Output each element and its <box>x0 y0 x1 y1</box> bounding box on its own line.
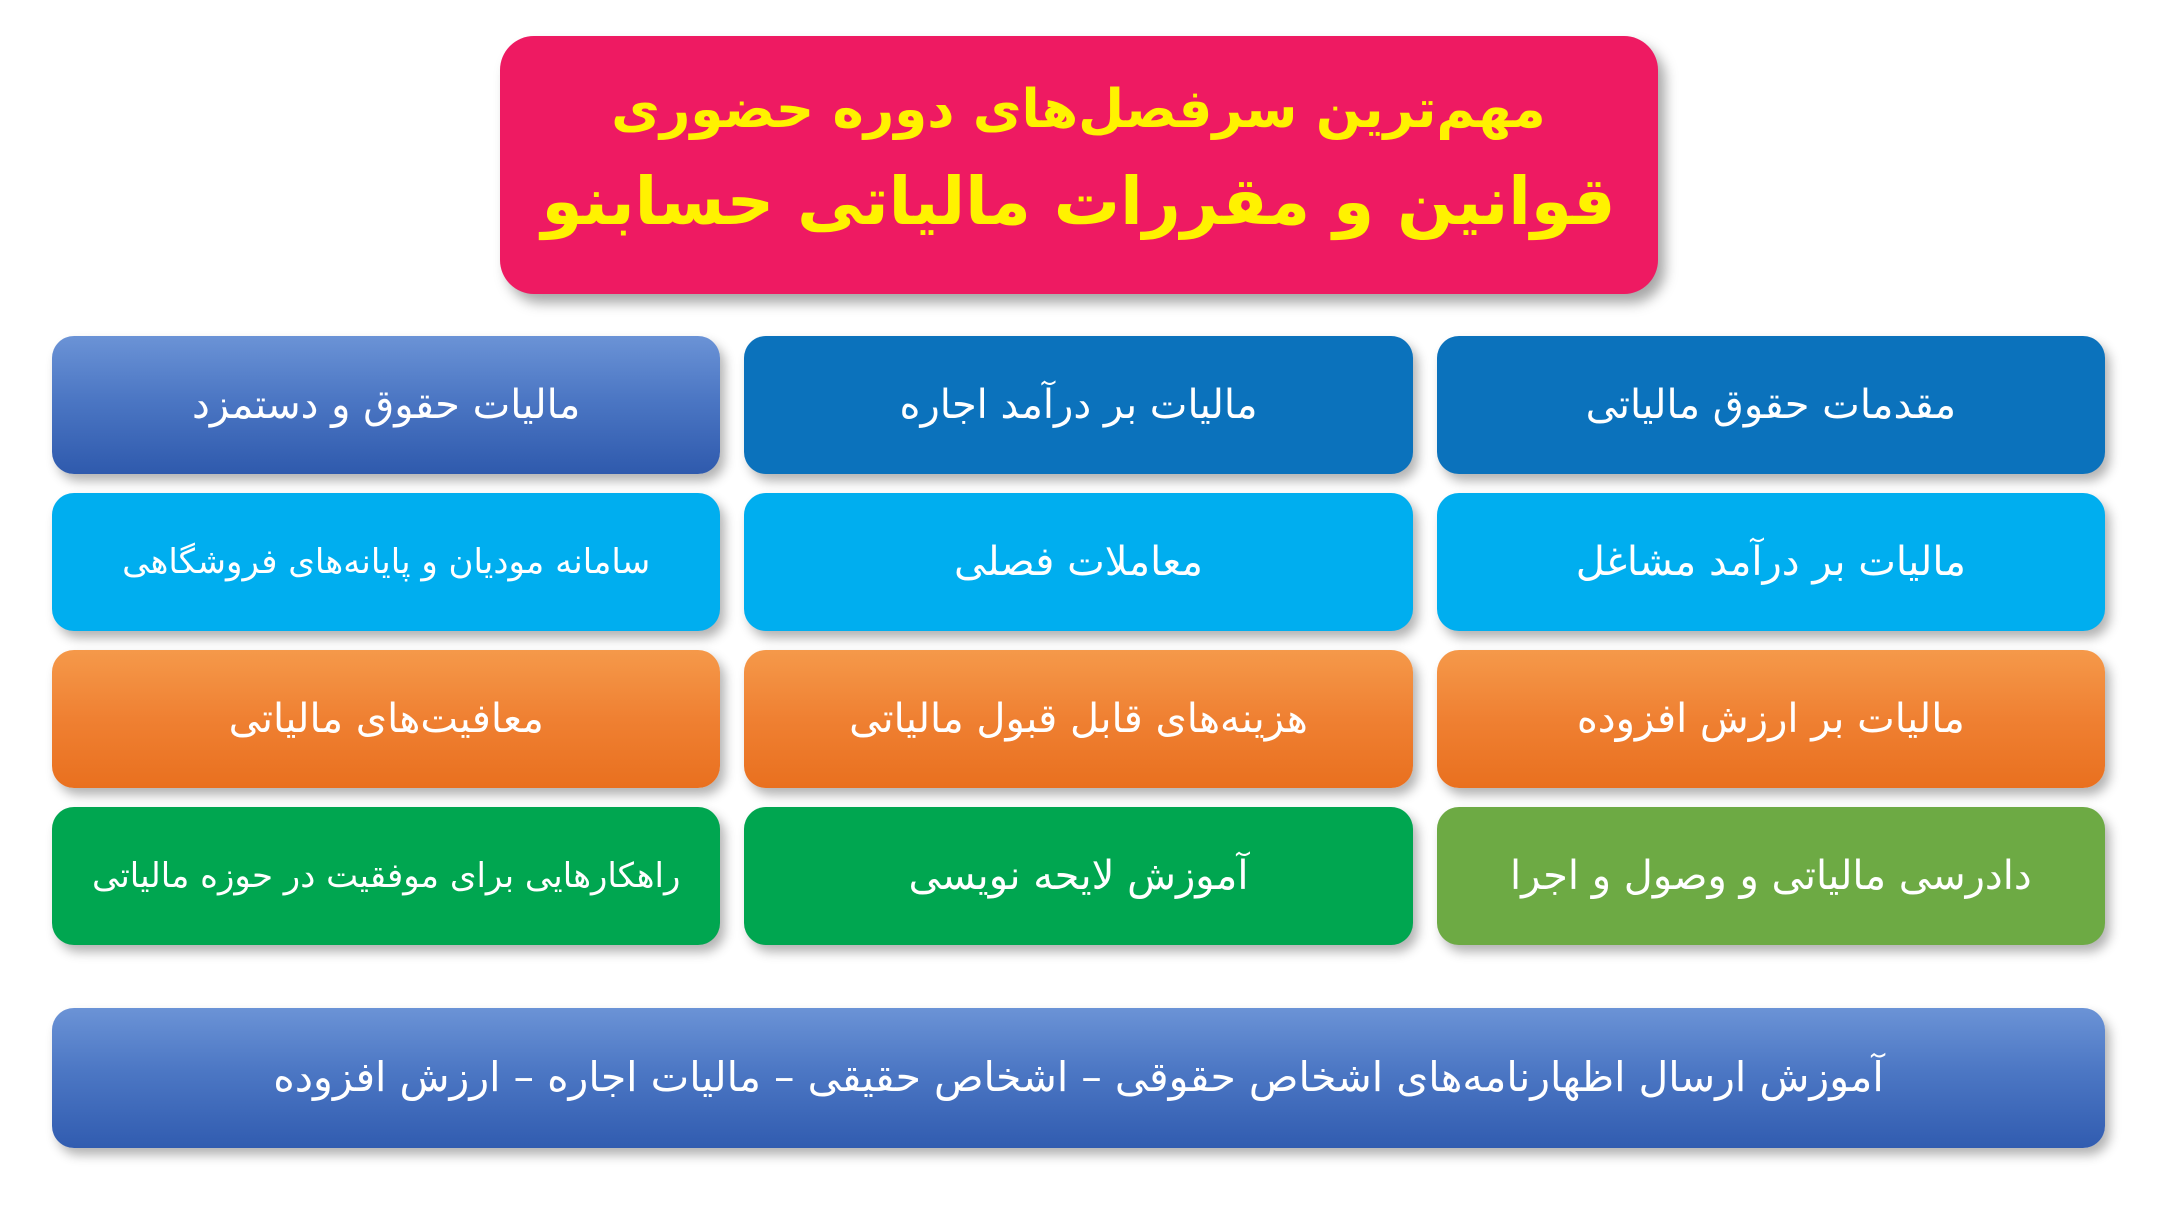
topic-card[interactable]: آموزش لایحه نویسی <box>744 807 1412 945</box>
topic-grid: مقدمات حقوق مالیاتی مالیات بر درآمد اجار… <box>52 336 2105 945</box>
topic-row-1: مقدمات حقوق مالیاتی مالیات بر درآمد اجار… <box>52 336 2105 474</box>
topic-card-label: مالیات بر درآمد اجاره <box>770 380 1386 430</box>
topic-card-label: دادرسی مالیاتی و وصول و اجرا <box>1463 851 2079 901</box>
bottom-banner-card[interactable]: آموزش ارسال اظهارنامه‌های اشخاص حقوقی – … <box>52 1008 2105 1148</box>
topic-card-label: مالیات بر درآمد مشاغل <box>1463 537 2079 587</box>
title-section: مهم‌ترین سرفصل‌های دوره حضوری قوانین و م… <box>0 36 2157 294</box>
topic-card[interactable]: سامانه مودیان و پایانه‌های فروشگاهی <box>52 493 720 631</box>
topic-row-2: مالیات بر درآمد مشاغل معاملات فصلی سامان… <box>52 493 2105 631</box>
topic-card[interactable]: معافیت‌های مالیاتی <box>52 650 720 788</box>
topic-row-3: مالیات بر ارزش افزوده هزینه‌های قابل قبو… <box>52 650 2105 788</box>
topic-card[interactable]: مالیات بر درآمد مشاغل <box>1437 493 2105 631</box>
topic-card[interactable]: دادرسی مالیاتی و وصول و اجرا <box>1437 807 2105 945</box>
topic-card[interactable]: معاملات فصلی <box>744 493 1412 631</box>
topic-card[interactable]: مالیات بر ارزش افزوده <box>1437 650 2105 788</box>
topic-card-label: سامانه مودیان و پایانه‌های فروشگاهی <box>78 541 694 584</box>
topic-card[interactable]: مالیات بر درآمد اجاره <box>744 336 1412 474</box>
topic-card[interactable]: مالیات حقوق و دستمزد <box>52 336 720 474</box>
title-card: مهم‌ترین سرفصل‌های دوره حضوری قوانین و م… <box>500 36 1658 294</box>
topic-card[interactable]: مقدمات حقوق مالیاتی <box>1437 336 2105 474</box>
topic-card-label: راهکارهایی برای موفقیت در حوزه مالیاتی <box>78 855 694 898</box>
topic-card-label: مالیات حقوق و دستمزد <box>78 380 694 430</box>
title-line-secondary: قوانین و مقررات مالیاتی حسابنو <box>542 159 1616 245</box>
bottom-section: آموزش ارسال اظهارنامه‌های اشخاص حقوقی – … <box>52 1008 2105 1148</box>
topic-row-4: دادرسی مالیاتی و وصول و اجرا آموزش لایحه… <box>52 807 2105 945</box>
title-line-primary: مهم‌ترین سرفصل‌های دوره حضوری <box>611 77 1545 143</box>
topic-card-label: آموزش لایحه نویسی <box>770 851 1386 901</box>
topic-card-label: معاملات فصلی <box>770 537 1386 587</box>
topic-card-label: مقدمات حقوق مالیاتی <box>1463 380 2079 430</box>
topic-card-label: هزینه‌های قابل قبول مالیاتی <box>770 694 1386 744</box>
bottom-banner-label: آموزش ارسال اظهارنامه‌های اشخاص حقوقی – … <box>273 1052 1883 1103</box>
topic-card[interactable]: هزینه‌های قابل قبول مالیاتی <box>744 650 1412 788</box>
topic-card[interactable]: راهکارهایی برای موفقیت در حوزه مالیاتی <box>52 807 720 945</box>
topic-card-label: معافیت‌های مالیاتی <box>78 694 694 744</box>
topic-card-label: مالیات بر ارزش افزوده <box>1463 694 2079 744</box>
infographic-poster: مهم‌ترین سرفصل‌های دوره حضوری قوانین و م… <box>0 0 2157 1213</box>
